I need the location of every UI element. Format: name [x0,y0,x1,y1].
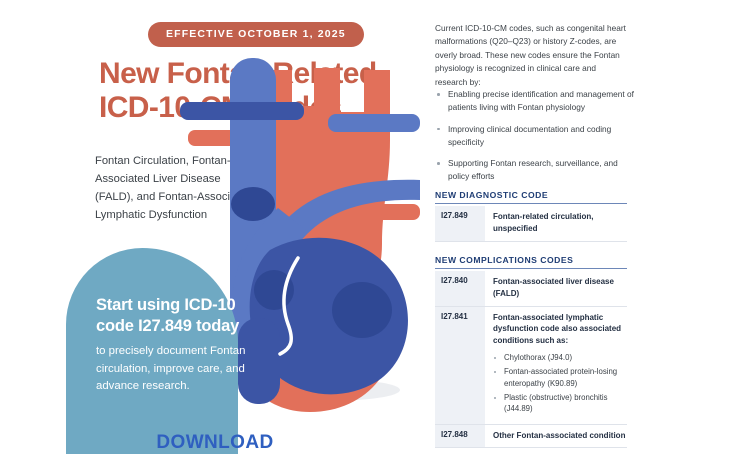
infographic-page: EFFECTIVE OCTOBER 1, 2025 New Fontan-Rel… [0,0,730,454]
callout-body: to precisely document Fontan circulation… [96,343,246,396]
list-item: Chylothorax (J94.0) [493,352,627,363]
download-link[interactable]: DOWNLOAD [0,432,430,454]
table-row: I27.841 Fontan-associated lymphatic dysf… [435,306,627,424]
callout-heading: Start using ICD-10 code I27.849 today [96,295,246,337]
list-item: Improving clinical documentation and cod… [435,123,635,150]
list-item: Plastic (obstructive) bronchitis (J44.89… [493,392,627,415]
intro-paragraph: Current ICD-10-CM codes, such as congeni… [435,22,627,89]
code-cell: I27.841 [435,306,485,424]
diagnostic-section-heading: NEW DIAGNOSTIC CODE [435,190,627,204]
code-cell: I27.840 [435,271,485,306]
ventricle-dot-right [332,282,392,338]
callout-text: Start using ICD-10 code I27.849 today to… [96,295,246,396]
list-item: Supporting Fontan research, surveillance… [435,157,635,184]
details-column: Current ICD-10-CM codes, such as congeni… [430,0,730,454]
code-cell: I27.848 [435,424,485,448]
table-row: I27.840 Fontan-associated liver disease … [435,271,627,306]
vein-bar-right [328,114,420,132]
description-cell: Fontan-related circulation, unspecified [485,206,627,241]
complications-section-heading: NEW COMPLICATIONS CODES [435,255,627,269]
code-cell: I27.849 [435,206,485,241]
list-item: Fontan-associated protein-losing enterop… [493,366,627,389]
complications-code-table: I27.840 Fontan-associated liver disease … [435,271,627,448]
list-item: Enabling precise identification and mana… [435,88,635,115]
description-text: Fontan-associated lymphatic dysfunction … [493,313,621,346]
table-row: I27.849 Fontan-related circulation, unsp… [435,206,627,241]
vein-junction-node [231,187,275,221]
benefits-list: Enabling precise identification and mana… [435,88,635,192]
table-row: I27.848 Other Fontan-associated conditio… [435,424,627,448]
description-cell: Other Fontan-associated condition [485,424,627,448]
associated-conditions-list: Chylothorax (J94.0) Fontan-associated pr… [493,352,627,414]
description-cell: Fontan-associated lymphatic dysfunction … [485,306,627,424]
description-cell: Fontan-associated liver disease (FALD) [485,271,627,306]
hero-column: EFFECTIVE OCTOBER 1, 2025 New Fontan-Rel… [0,0,430,454]
diagnostic-code-table: I27.849 Fontan-related circulation, unsp… [435,206,627,242]
vein-bar-upper [180,102,304,120]
